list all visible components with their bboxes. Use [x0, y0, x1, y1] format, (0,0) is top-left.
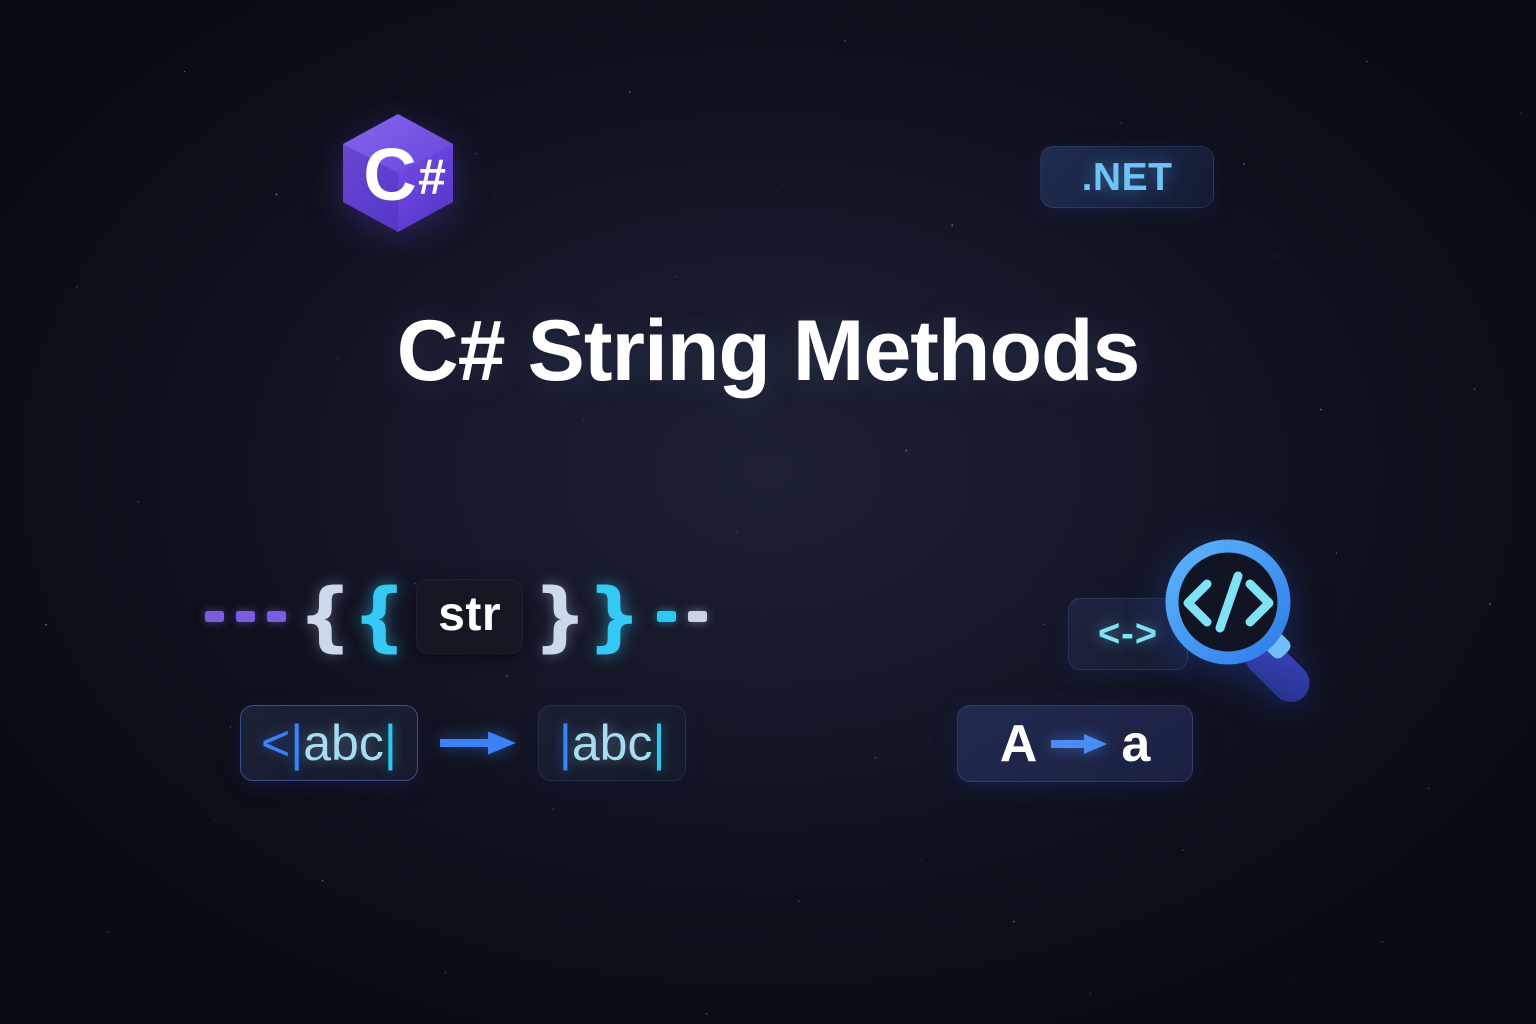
trim-chip-before: < | abc |	[240, 705, 418, 781]
right-arrow-icon	[440, 730, 516, 756]
case-conversion-chip: A a	[957, 705, 1193, 782]
brace-outer-close: }	[587, 578, 641, 654]
brace-inner-close: }	[533, 578, 587, 654]
starfield-layer-1	[0, 0, 1536, 1024]
dash-purple-1	[205, 611, 224, 622]
lowercase-letter: a	[1121, 718, 1150, 770]
dash-cyan-1	[657, 611, 676, 622]
dotnet-badge-label: .NET	[1082, 158, 1173, 197]
starfield-layer-3	[0, 0, 1536, 1024]
starfield-layer-2	[0, 0, 1536, 1024]
csharp-logo: C #	[338, 112, 458, 234]
trim-before-text: abc	[303, 718, 384, 768]
csharp-logo-sharp: #	[418, 149, 446, 205]
trim-after-pipe-left: |	[559, 718, 572, 768]
trim-after-pipe-right: |	[652, 718, 665, 768]
uppercase-letter: A	[1000, 718, 1038, 770]
right-arrow-icon	[1051, 733, 1107, 755]
trim-chip-after: | abc |	[538, 705, 687, 781]
regex-chip-label: <->	[1098, 615, 1158, 653]
trim-before-pipe-right: |	[384, 718, 397, 768]
trim-angle-glyph: <	[261, 718, 290, 768]
dotnet-badge: .NET	[1040, 146, 1214, 208]
str-chip-label: str	[438, 588, 501, 641]
brace-inner-open: {	[352, 578, 406, 654]
magnifying-glass-code-icon	[1160, 536, 1336, 704]
dash-purple-2	[236, 611, 255, 622]
dash-pale-1	[688, 611, 707, 622]
trim-transformation-motif: < | abc | | abc |	[240, 705, 686, 781]
page-title: C# String Methods	[0, 305, 1536, 398]
str-chip: str	[416, 579, 523, 654]
trim-after-text: abc	[572, 718, 653, 768]
string-interpolation-motif: { { str } }	[205, 566, 707, 666]
interpolation-right-dashes	[657, 611, 707, 622]
trim-before-pipe-left: |	[290, 718, 303, 768]
csharp-logo-letter: C	[363, 133, 416, 216]
interpolation-left-dashes	[205, 611, 298, 622]
poster-canvas: C # .NET C# String Methods { { str } } <	[0, 0, 1536, 1024]
brace-outer-open: {	[298, 578, 352, 654]
dash-purple-3	[267, 611, 286, 622]
